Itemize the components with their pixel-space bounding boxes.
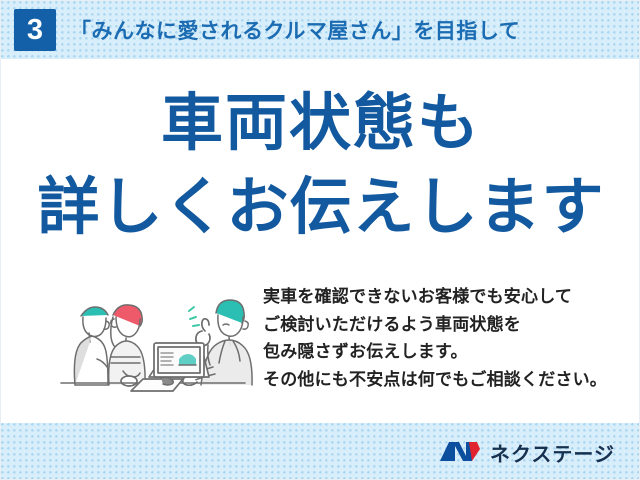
header-content: 3 「みんなに愛されるクルマ屋さん」を目指して	[1, 1, 640, 59]
section-number-label: 3	[27, 16, 43, 45]
nextage-n-logo-icon	[439, 439, 481, 465]
footer-content: ネクステージ	[1, 423, 640, 480]
brand-wordmark: ネクステージ	[490, 438, 615, 467]
content-row: 実車を確認できないお客様でも安心して ご検討いただけるよう車両状態を 包み隠さず…	[1, 273, 640, 401]
consultation-illustration	[53, 273, 253, 393]
headline-line-2: 詳しくお伝えします	[1, 177, 640, 239]
body-copy-line-2: ご検討いただけるよう車両状態を	[263, 311, 623, 339]
body-copy-line-3: 包み隠さずお伝えします。	[263, 338, 623, 366]
promo-banner: 3 「みんなに愛されるクルマ屋さん」を目指して 車両状態も 詳しくお伝えします	[0, 0, 640, 480]
headline-block: 車両状態も 詳しくお伝えします	[1, 93, 640, 239]
body-copy: 実車を確認できないお客様でも安心して ご検討いただけるよう車両状態を 包み隠さず…	[263, 283, 623, 393]
header-band: 3 「みんなに愛されるクルマ屋さん」を目指して	[1, 1, 640, 59]
body-copy-line-4: その他にも不安点は何でもご相談ください。	[263, 366, 623, 394]
footer-band: ネクステージ	[1, 423, 640, 480]
headline-line-1: 車両状態も	[1, 93, 640, 155]
header-title: 「みんなに愛されるクルマ屋さん」を目指して	[70, 15, 520, 45]
brand-lockup: ネクステージ	[439, 438, 615, 467]
section-number-badge: 3	[14, 9, 56, 51]
body-copy-line-1: 実車を確認できないお客様でも安心して	[263, 283, 623, 311]
